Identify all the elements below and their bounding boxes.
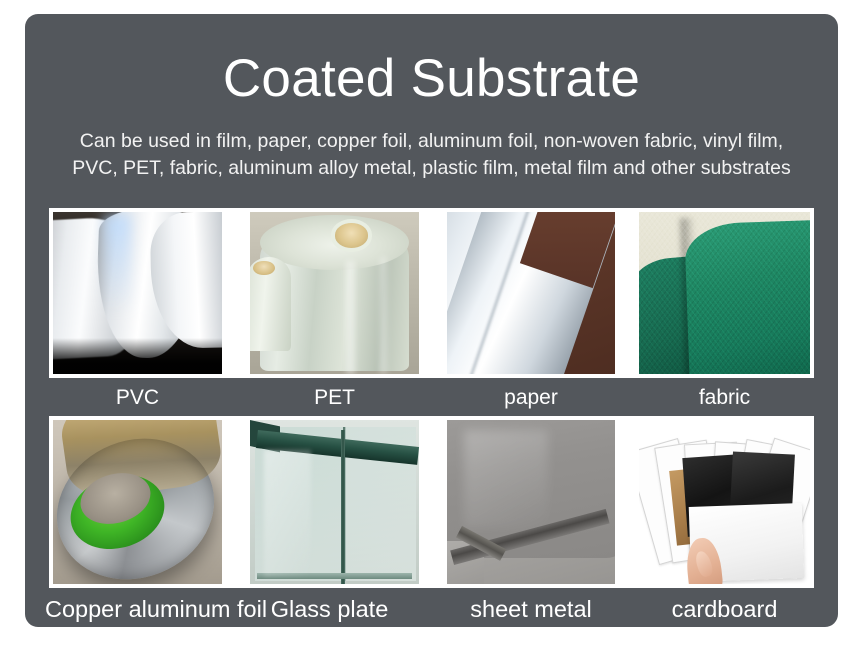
photo-panel-row-1 [49,208,814,378]
photo-label-copper-aluminum-foil: Copper aluminum foil [45,592,230,626]
subtitle-description: Can be used in film, paper, copper foil,… [45,128,818,182]
photo-cell-paper [447,212,615,374]
label-strip-row-2: Copper aluminum foil Glass plate sheet m… [49,592,814,626]
photo-label-pet: PET [250,381,419,415]
page-title: Coated Substrate [25,48,838,110]
subtitle-line-2: PVC, PET, fabric, aluminum alloy metal, … [45,155,818,182]
label-strip-row-1: PVC PET paper fabric [49,381,814,415]
cardboard-sheets-photo [639,420,810,584]
photo-cell-glass-plate [250,420,419,584]
photo-cell-sheet-metal [447,420,615,584]
photo-label-paper: paper [447,381,615,415]
photo-cell-copper-aluminum-foil [53,420,222,584]
subtitle-line-1: Can be used in film, paper, copper foil,… [45,128,818,155]
photo-cell-pet [250,212,419,374]
content-card: Coated Substrate Can be used in film, pa… [25,14,838,627]
photo-label-glass-plate: Glass plate [245,592,414,626]
glass-plate-photo [250,420,419,584]
green-nonwoven-fabric-photo [639,212,810,374]
coated-substrate-infographic: Coated Substrate Can be used in film, pa… [0,0,860,669]
copper-aluminum-foil-roll-photo [53,420,222,584]
paper-roll-photo [447,212,615,374]
pet-clear-film-roll-photo [250,212,419,374]
photo-cell-cardboard [639,420,810,584]
sheet-metal-plate-photo [447,420,615,584]
photo-cell-pvc [53,212,222,374]
photo-label-cardboard: cardboard [639,592,810,626]
photo-cell-fabric [639,212,810,374]
photo-panel-row-2 [49,416,814,588]
pvc-film-roll-photo [53,212,222,374]
photo-label-pvc: PVC [53,381,222,415]
photo-label-sheet-metal: sheet metal [447,592,615,626]
photo-label-fabric: fabric [639,381,810,415]
